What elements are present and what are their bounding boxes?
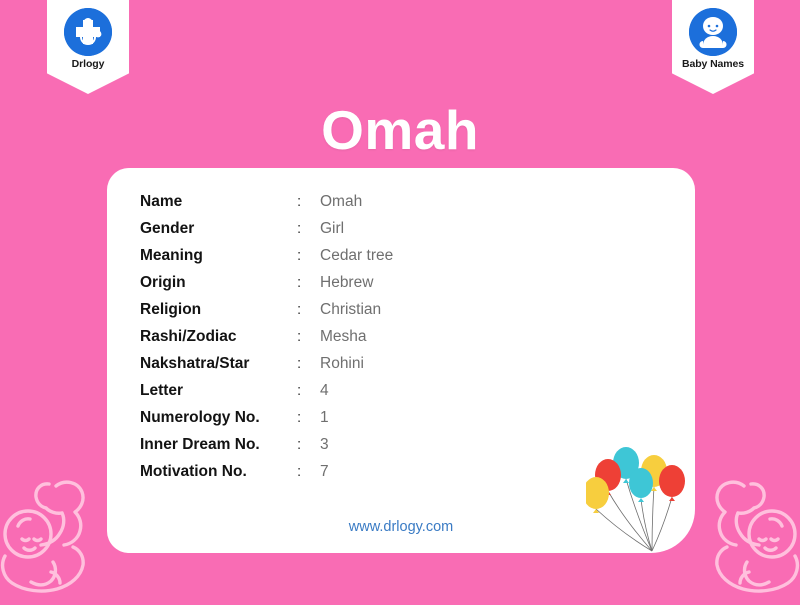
detail-row: Meaning:Cedar tree <box>140 247 393 274</box>
site-url[interactable]: www.drlogy.com <box>107 519 695 535</box>
detail-value: 1 <box>320 409 329 427</box>
doctor-stethoscope-icon <box>64 8 112 56</box>
badge-label: Drlogy <box>47 59 129 70</box>
brand-badge-baby-names[interactable]: Baby Names <box>672 0 754 94</box>
badge-banner: Baby Names <box>672 0 754 94</box>
detail-label: Numerology No. <box>140 409 297 427</box>
detail-separator: : <box>297 382 320 399</box>
name-details-table: Name:OmahGender:GirlMeaning:Cedar treeOr… <box>140 193 393 490</box>
detail-label: Motivation No. <box>140 463 297 481</box>
detail-label: Rashi/Zodiac <box>140 328 297 346</box>
detail-label: Religion <box>140 301 297 319</box>
detail-separator: : <box>297 463 320 480</box>
detail-row: Inner Dream No.:3 <box>140 436 393 463</box>
detail-separator: : <box>297 301 320 318</box>
balloons-icon <box>586 439 691 553</box>
detail-separator: : <box>297 220 320 237</box>
detail-row: Motivation No.:7 <box>140 463 393 490</box>
detail-separator: : <box>297 328 320 345</box>
page-title: Omah <box>0 103 800 158</box>
detail-label: Letter <box>140 382 297 400</box>
detail-value: Cedar tree <box>320 247 393 265</box>
detail-separator: : <box>297 355 320 372</box>
detail-label: Origin <box>140 274 297 292</box>
detail-value: Hebrew <box>320 274 373 292</box>
detail-label: Name <box>140 193 297 211</box>
detail-value: Rohini <box>320 355 364 373</box>
detail-value: 7 <box>320 463 329 481</box>
detail-row: Origin:Hebrew <box>140 274 393 301</box>
detail-separator: : <box>297 274 320 291</box>
mother-and-baby-icon <box>688 460 800 600</box>
detail-row: Nakshatra/Star:Rohini <box>140 355 393 382</box>
detail-value: Mesha <box>320 328 367 346</box>
detail-row: Religion:Christian <box>140 301 393 328</box>
detail-value: Omah <box>320 193 362 211</box>
badge-label: Baby Names <box>672 59 754 70</box>
detail-row: Rashi/Zodiac:Mesha <box>140 328 393 355</box>
detail-label: Inner Dream No. <box>140 436 297 454</box>
detail-separator: : <box>297 247 320 264</box>
detail-value: 4 <box>320 382 329 400</box>
detail-label: Meaning <box>140 247 297 265</box>
detail-value: 3 <box>320 436 329 454</box>
detail-label: Nakshatra/Star <box>140 355 297 373</box>
detail-row: Numerology No.:1 <box>140 409 393 436</box>
brand-badge-drlogy[interactable]: Drlogy <box>47 0 129 94</box>
detail-separator: : <box>297 409 320 426</box>
detail-row: Name:Omah <box>140 193 393 220</box>
mother-and-baby-icon <box>0 460 112 600</box>
detail-label: Gender <box>140 220 297 238</box>
detail-separator: : <box>297 436 320 453</box>
detail-value: Christian <box>320 301 381 319</box>
name-details-card: Name:OmahGender:GirlMeaning:Cedar treeOr… <box>107 168 695 553</box>
detail-row: Gender:Girl <box>140 220 393 247</box>
detail-row: Letter:4 <box>140 382 393 409</box>
baby-icon <box>689 8 737 56</box>
detail-value: Girl <box>320 220 344 238</box>
badge-banner: Drlogy <box>47 0 129 94</box>
detail-separator: : <box>297 193 320 210</box>
